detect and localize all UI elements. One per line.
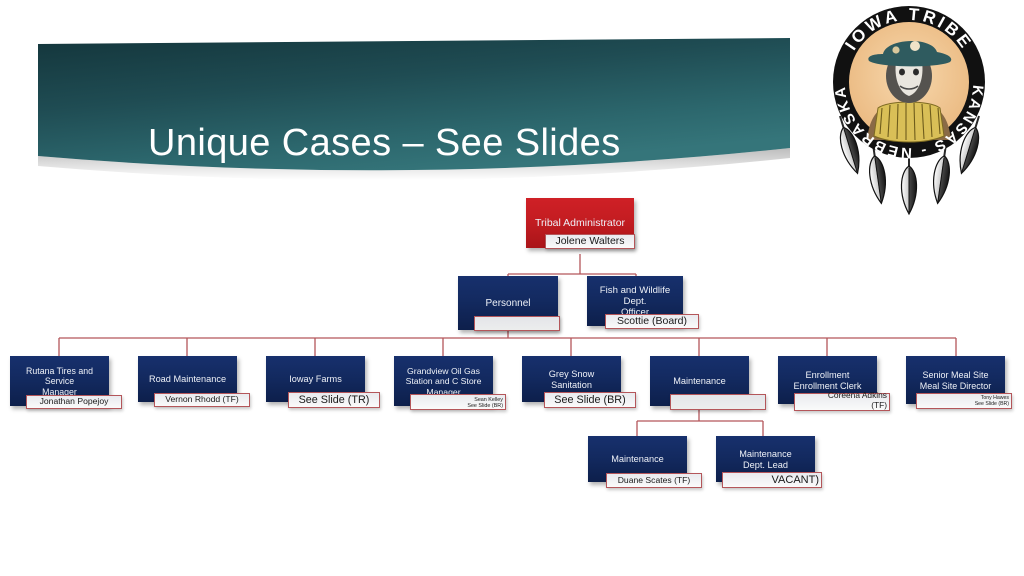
node-title: Tribal Administrator <box>529 217 631 229</box>
node-name: Duane Scates (TF) <box>618 476 691 486</box>
presentation-slide: Unique Cases – See Slides <box>0 0 1024 576</box>
node-title-line-2: Sanitation <box>551 380 592 391</box>
node-name-plate[interactable]: Jonathan Popejoy <box>26 395 122 409</box>
org-node-maintenance-child[interactable]: Maintenance Duane Scates (TF) <box>588 436 687 482</box>
node-name-plate[interactable]: Tony Hawes See Slide (BR) <box>916 393 1012 409</box>
node-title-line-1: Rutana Tires and <box>26 366 93 376</box>
node-name-plate[interactable]: Jolene Walters <box>545 234 635 249</box>
node-name-line-2: See Slide (BR) <box>919 402 1009 408</box>
node-name-plate[interactable]: Vernon Rhodd (TF) <box>154 393 250 407</box>
node-name-plate[interactable] <box>474 316 560 331</box>
node-title-line-1: Fish and Wildlife <box>600 285 670 296</box>
node-name: Vernon Rhodd (TF) <box>165 395 239 405</box>
node-name-plate[interactable]: Coreena Adkins (TF) <box>794 393 890 411</box>
node-title: Personnel <box>461 298 555 310</box>
node-title-line-1: Road Maintenance <box>149 374 226 385</box>
org-node-enrollment[interactable]: Enrollment Enrollment Clerk Coreena Adki… <box>778 356 877 404</box>
node-name-plate[interactable]: VACANT) <box>722 472 822 488</box>
node-name: See Slide (BR) <box>554 394 625 406</box>
org-node-maintenance-dept-lead[interactable]: Maintenance Dept. Lead VACANT) <box>716 436 815 482</box>
node-name: VACANT) <box>725 474 819 486</box>
org-chart: Tribal Administrator Jolene Walters Pers… <box>0 0 1024 576</box>
org-node-senior-meal-site[interactable]: Senior Meal Site Meal Site Director Tony… <box>906 356 1005 404</box>
node-name-line-2: See Slide (BR) <box>413 403 503 409</box>
org-node-tribal-administrator[interactable]: Tribal Administrator Jolene Walters <box>526 198 634 248</box>
org-node-fish-and-wildlife[interactable]: Fish and Wildlife Dept. Officer Scottie … <box>587 276 683 326</box>
node-name-plate[interactable]: Scottie (Board) <box>605 314 699 329</box>
node-name: Scottie (Board) <box>617 316 687 328</box>
node-name: See Slide (TR) <box>299 394 370 406</box>
node-title-line-1: Maintenance <box>673 376 726 387</box>
node-name: Jonathan Popejoy <box>40 397 109 407</box>
node-title-line-1: Grandview Oil Gas <box>407 366 480 376</box>
node-name: Jolene Walters <box>555 236 624 248</box>
node-title-line-2: Station and C Store <box>406 376 482 386</box>
node-name-plate[interactable]: Duane Scates (TF) <box>606 473 702 488</box>
org-node-personnel[interactable]: Personnel <box>458 276 558 330</box>
node-title-line-2: Service <box>45 376 74 386</box>
node-title-line-2: Meal Site Director <box>920 381 992 392</box>
org-node-ioway-farms[interactable]: Ioway Farms See Slide (TR) <box>266 356 365 402</box>
node-name-plate[interactable] <box>670 394 766 410</box>
org-node-grey-snow-sanitation[interactable]: Grey Snow Sanitation See Slide (BR) <box>522 356 621 402</box>
node-title-line-2: Dept. <box>624 296 647 307</box>
node-name-plate[interactable]: See Slide (TR) <box>288 392 380 408</box>
node-title-line-1: Ioway Farms <box>289 374 342 385</box>
org-node-rutana-tires[interactable]: Rutana Tires and Service Manager Jonatha… <box>10 356 109 406</box>
node-name-line-2: (TF) <box>797 401 887 410</box>
node-title-line-1: Grey Snow <box>549 369 594 380</box>
node-title-line-1: Maintenance <box>739 449 792 460</box>
org-node-maintenance[interactable]: Maintenance <box>650 356 749 406</box>
org-node-grandview-oil-gas[interactable]: Grandview Oil Gas Station and C Store Ma… <box>394 356 493 406</box>
node-title-line-1: Senior Meal Site <box>922 370 988 381</box>
org-node-road-maintenance[interactable]: Road Maintenance Vernon Rhodd (TF) <box>138 356 237 402</box>
node-name-plate[interactable]: Sean Kelley See Slide (BR) <box>410 394 506 410</box>
node-title-line-1: Enrollment <box>806 370 850 381</box>
node-title-line-1: Maintenance <box>611 454 664 465</box>
node-title-line-2: Dept. Lead <box>743 460 788 471</box>
node-name-plate[interactable]: See Slide (BR) <box>544 392 636 408</box>
